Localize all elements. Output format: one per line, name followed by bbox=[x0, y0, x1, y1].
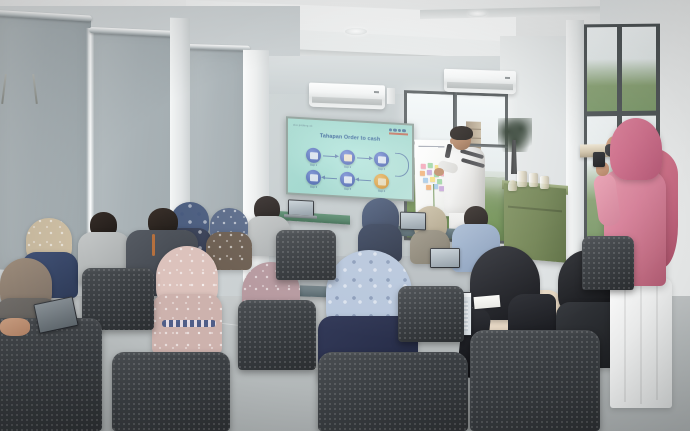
slide-arrow bbox=[323, 155, 337, 157]
ceiling-downlight bbox=[468, 11, 487, 17]
air-conditioner bbox=[444, 69, 516, 95]
presenter-hair bbox=[450, 126, 473, 140]
slide-brand-text: oka padang ok bbox=[293, 124, 313, 128]
slide-step-caption: Step 6 bbox=[299, 185, 329, 190]
paper-sheet bbox=[474, 295, 501, 309]
slide-step-node-4: Step 4 bbox=[374, 173, 389, 189]
chair[interactable] bbox=[238, 300, 316, 370]
jar bbox=[517, 171, 527, 187]
pink-hijab bbox=[610, 118, 662, 180]
ac-pipe bbox=[387, 88, 395, 104]
photo-scene: oka padang ok Tahapan Order to cash Step… bbox=[0, 0, 690, 431]
chair[interactable] bbox=[582, 236, 634, 290]
slide-step-node-3: Step 3 bbox=[374, 151, 389, 167]
white-skirt bbox=[610, 278, 672, 408]
jar bbox=[529, 173, 538, 187]
window-pane bbox=[622, 27, 656, 111]
jar bbox=[540, 176, 549, 189]
slide-step-node-6: Step 6 bbox=[306, 169, 321, 185]
slide-step-node-2: Step 2 bbox=[340, 149, 355, 165]
window-pane bbox=[587, 27, 617, 111]
slide-arrow bbox=[357, 157, 371, 159]
laptop[interactable] bbox=[400, 212, 426, 231]
smartphone-icon[interactable] bbox=[593, 152, 605, 167]
presenter-hand bbox=[434, 168, 444, 176]
air-conditioner bbox=[309, 83, 385, 110]
audience-person-navy-hijab-center bbox=[358, 198, 402, 254]
slide-step-node-5: Step 5 bbox=[340, 171, 355, 187]
chair[interactable] bbox=[276, 230, 336, 280]
slide-step-node-1: Step 1 bbox=[306, 147, 321, 163]
slide-logo bbox=[389, 128, 408, 137]
slide-step-caption: Step 4 bbox=[367, 189, 397, 194]
chair[interactable] bbox=[112, 352, 230, 431]
chair[interactable] bbox=[398, 286, 464, 342]
slide-step-caption: Step 3 bbox=[367, 167, 397, 172]
slide-arrow bbox=[323, 177, 337, 179]
slide-step-caption: Step 1 bbox=[299, 163, 329, 168]
chair[interactable] bbox=[318, 352, 468, 431]
slide-step-caption: Step 5 bbox=[333, 187, 363, 192]
audience-person-pink-hijab-front bbox=[152, 246, 222, 346]
slide-arrow bbox=[357, 179, 371, 181]
ceiling-downlight bbox=[345, 28, 367, 35]
projection-screen: oka padang ok Tahapan Order to cash Step… bbox=[286, 116, 414, 202]
jar bbox=[508, 180, 517, 191]
hand bbox=[0, 318, 30, 336]
slide-loop-arrow bbox=[395, 153, 409, 178]
slide-step-caption: Step 2 bbox=[333, 165, 363, 170]
chair[interactable] bbox=[470, 330, 600, 431]
projected-slide: oka padang ok Tahapan Order to cash Step… bbox=[288, 118, 412, 199]
